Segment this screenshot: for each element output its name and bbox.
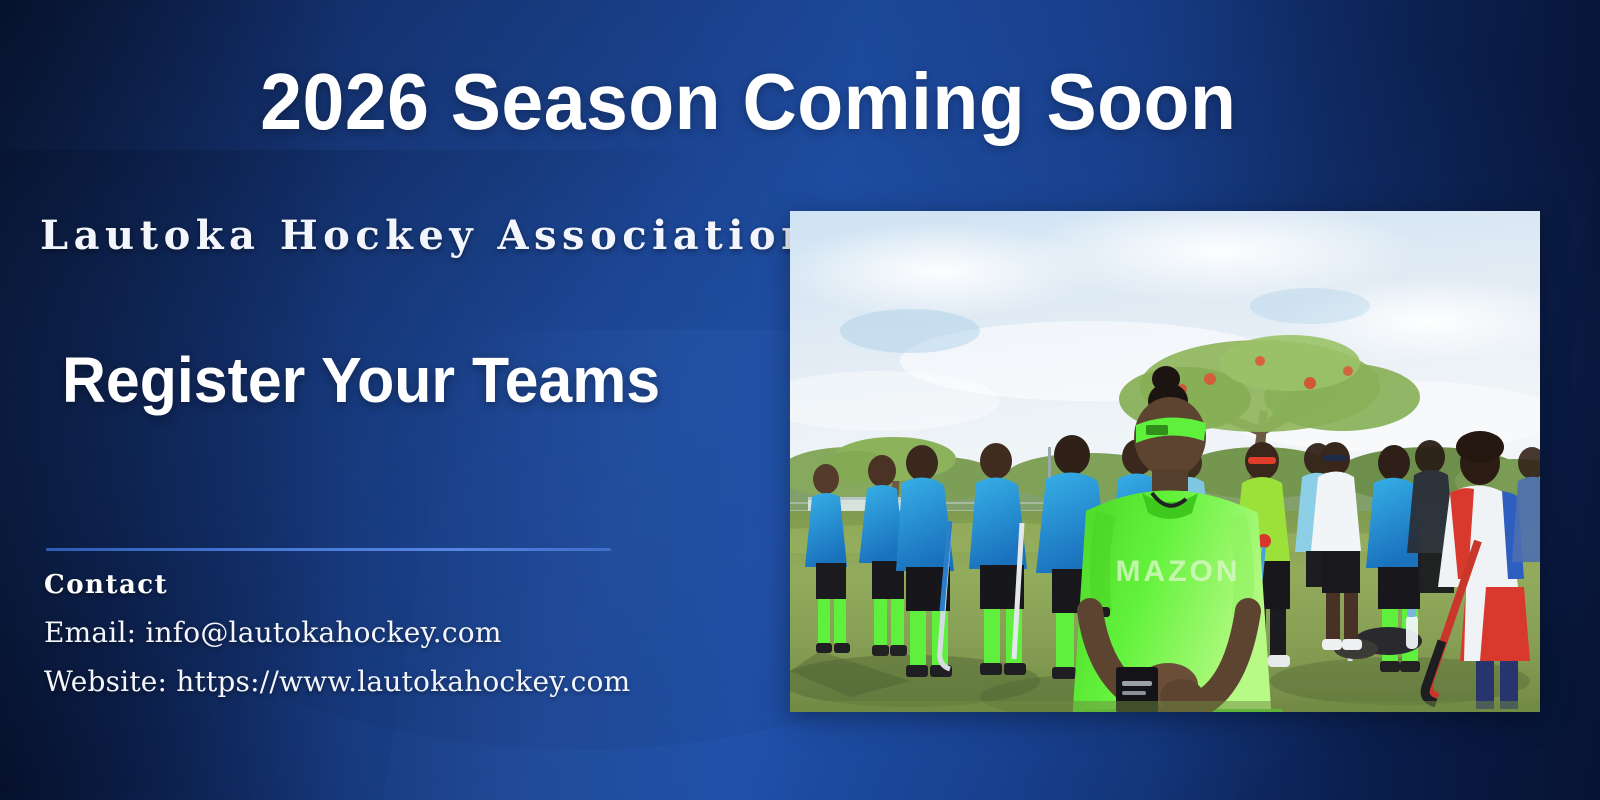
contact-email[interactable]: Email: info@lautokahockey.com	[44, 616, 630, 649]
team-photo-illustration: MAZON	[790, 211, 1540, 712]
promo-banner: 2026 Season Coming Soon Lautoka Hockey A…	[0, 0, 1600, 800]
contact-section: Contact Email: info@lautokahockey.com We…	[44, 570, 630, 714]
section-divider	[46, 548, 611, 551]
team-photo: MAZON	[790, 211, 1540, 712]
page-title: 2026 Season Coming Soon	[48, 62, 1552, 142]
contact-website[interactable]: Website: https://www.lautokahockey.com	[44, 665, 630, 698]
contact-heading: Contact	[44, 570, 630, 600]
call-to-action-heading: Register Your Teams	[62, 348, 660, 412]
organization-name: Lautoka Hockey Association	[40, 212, 816, 259]
svg-text:MAZON: MAZON	[1116, 555, 1241, 588]
